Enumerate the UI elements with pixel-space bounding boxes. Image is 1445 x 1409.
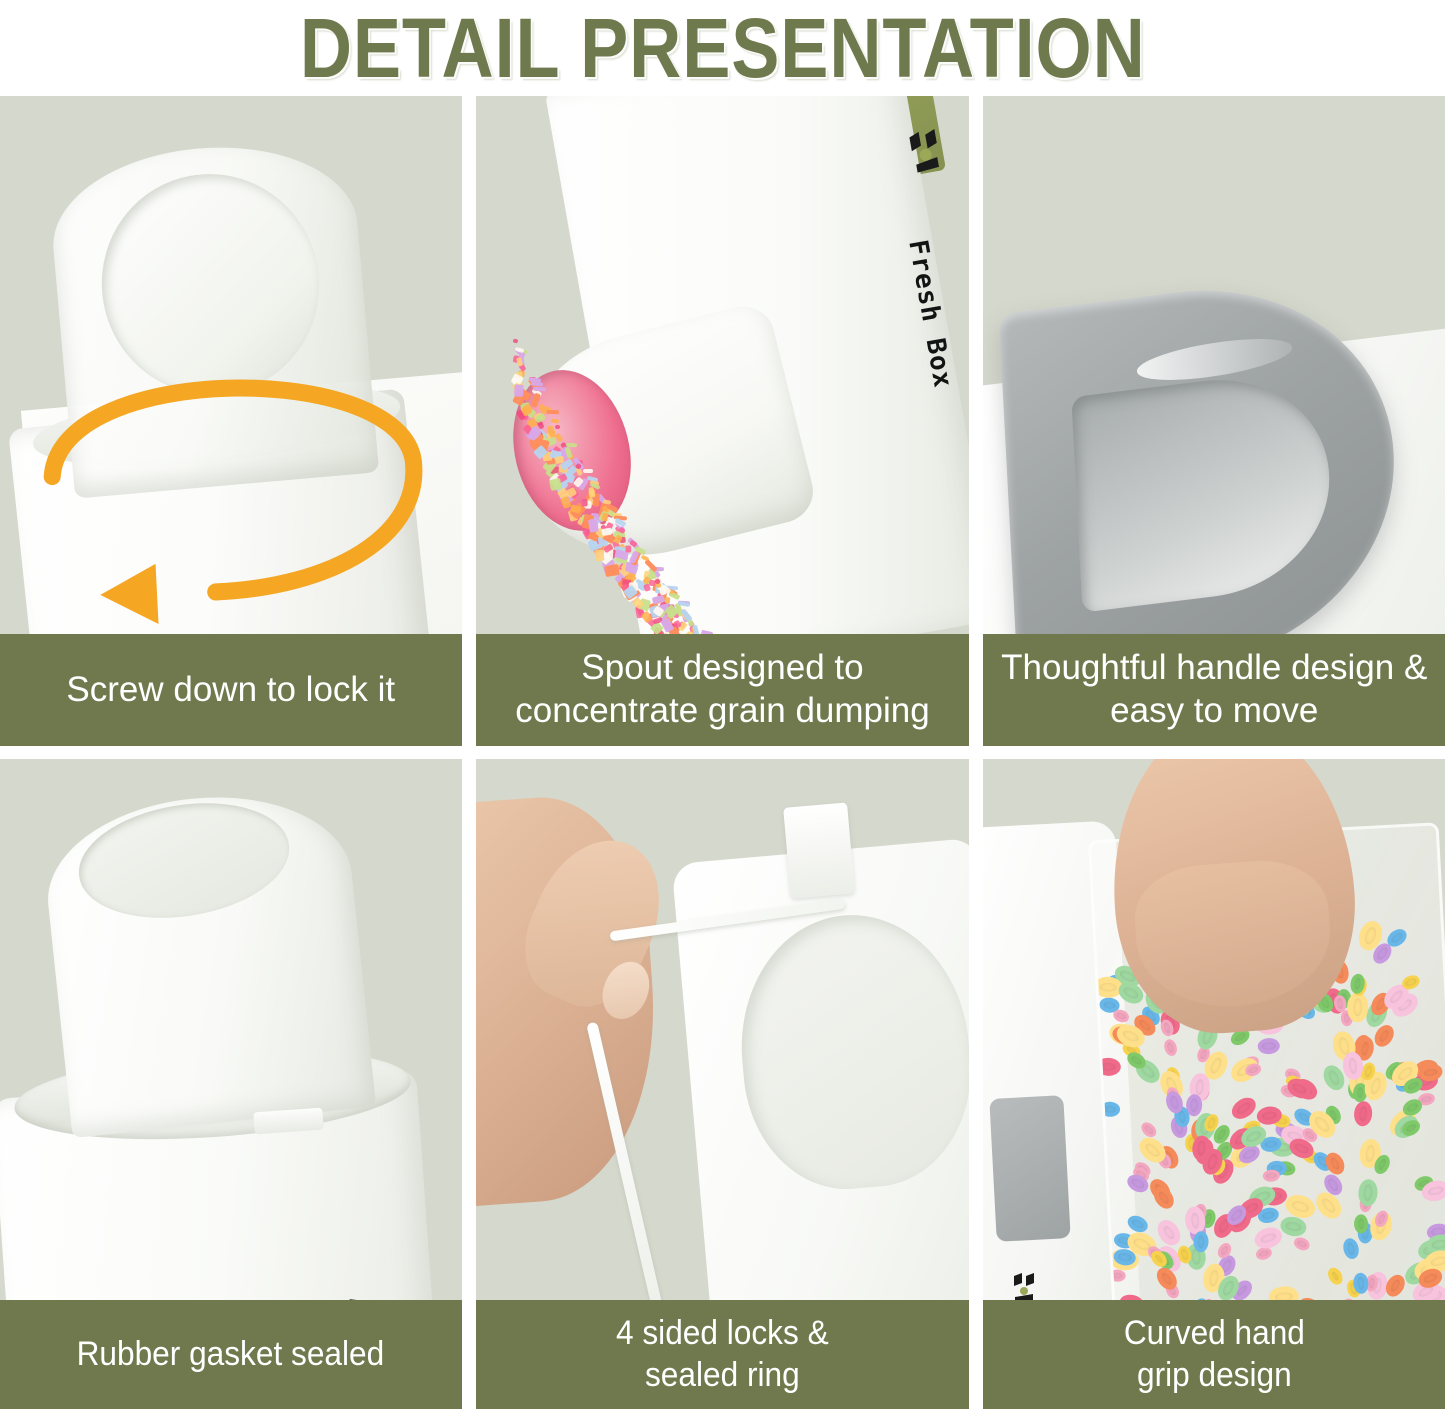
caption-line: concentrate grain dumping	[515, 690, 929, 733]
panel-curved-grip[interactable]: Fresh Box Curved hand grip design	[983, 759, 1445, 1409]
caption-line: 4 sided locks &	[608, 1313, 837, 1354]
page-title: DETAIL PRESENTATION	[300, 0, 1146, 97]
panel-spout-pour[interactable]: Fresh Box Spout designed to concentrate …	[476, 96, 970, 746]
caption-screw-lock: Screw down to lock it	[0, 634, 462, 746]
panel-rubber-gasket[interactable]: Fresh Rubber gasket sealed	[0, 759, 462, 1409]
caption-curved-grip: Curved hand grip design	[983, 1300, 1445, 1409]
caption-line: sealed ring	[608, 1355, 837, 1396]
panel-handle-design[interactable]: Thoughtful handle design & easy to move	[983, 96, 1445, 746]
panel-screw-lock[interactable]: Fresh Box Screw down to lock it	[0, 96, 462, 746]
caption-spout-pour: Spout designed to concentrate grain dump…	[476, 634, 970, 746]
panel-row-bottom: Fresh Rubber gasket sealed 4 sided locks…	[0, 759, 1445, 1409]
panel-row-top: Fresh Box Screw down to lock it F	[0, 96, 1445, 746]
caption-line: Thoughtful handle design &	[1001, 647, 1427, 690]
caption-line: Screw down to lock it	[66, 669, 395, 712]
caption-line: Curved hand	[1117, 1313, 1312, 1354]
title-bar: DETAIL PRESENTATION	[0, 0, 1445, 96]
panel-grid: Fresh Box Screw down to lock it F	[0, 96, 1445, 1409]
hand-grip-icon	[989, 1095, 1070, 1242]
side-lock-clip	[783, 802, 855, 898]
caption-four-sided-locks: 4 sided locks & sealed ring	[476, 1300, 970, 1409]
caption-line: grip design	[1117, 1355, 1312, 1396]
panel-four-sided-locks[interactable]: 4 sided locks & sealed ring	[476, 759, 970, 1409]
rotate-arrow-icon	[0, 278, 462, 655]
caption-handle-design: Thoughtful handle design & easy to move	[983, 634, 1445, 746]
caption-line: easy to move	[1001, 690, 1427, 733]
brand-logo-icon	[905, 126, 946, 175]
caption-rubber-gasket: Rubber gasket sealed	[0, 1300, 462, 1409]
caption-line: Rubber gasket sealed	[77, 1334, 385, 1375]
caption-line: Spout designed to	[515, 647, 929, 690]
